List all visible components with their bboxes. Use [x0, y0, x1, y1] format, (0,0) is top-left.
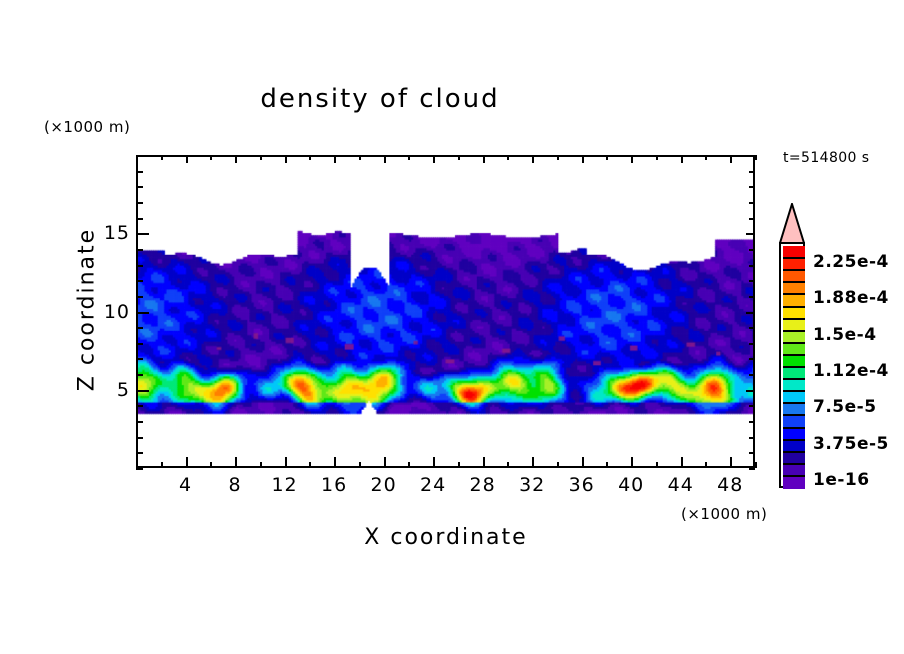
x-top-tick	[186, 155, 188, 163]
x-minor-tick	[705, 462, 707, 468]
x-top-tick	[161, 155, 163, 160]
y-right-tick	[749, 327, 755, 329]
y-right-tick	[749, 202, 755, 204]
y-tick-label: 10	[84, 301, 130, 323]
y-minor-tick	[136, 280, 143, 282]
x-tick-label: 28	[470, 474, 496, 496]
x-top-tick	[507, 155, 509, 160]
y-right-tick	[749, 343, 755, 345]
colorbar-tick-label: 2.25e-4	[813, 252, 889, 272]
x-top-tick	[210, 155, 212, 160]
colorbar-level-line	[783, 354, 805, 356]
y-right-tick	[749, 296, 755, 298]
plot-area	[136, 155, 755, 468]
x-top-tick	[408, 155, 410, 160]
x-top-tick	[755, 155, 757, 160]
x-top-tick	[681, 155, 683, 163]
colorbar-extend-arrow	[779, 203, 805, 244]
colorbar-level-line	[783, 330, 805, 332]
y-major-tick	[136, 312, 149, 314]
y-tick-label: 5	[84, 379, 130, 401]
y-right-tick	[749, 280, 755, 282]
y-right-tick	[749, 374, 755, 376]
x-tick-label: 4	[179, 474, 192, 496]
x-tick-label: 20	[371, 474, 397, 496]
x-top-tick	[582, 155, 584, 163]
x-major-tick	[433, 457, 435, 468]
x-minor-tick	[161, 462, 163, 468]
x-top-tick	[260, 155, 262, 160]
x-minor-tick	[260, 462, 262, 468]
x-top-tick	[705, 155, 707, 160]
y-right-tick	[749, 249, 755, 251]
x-minor-tick	[656, 462, 658, 468]
y-minor-tick	[136, 202, 143, 204]
y-minor-tick	[136, 296, 143, 298]
x-tick-label: 48	[717, 474, 743, 496]
x-major-tick	[186, 457, 188, 468]
colorbar[interactable]	[779, 242, 805, 488]
x-tick-label: 32	[519, 474, 545, 496]
y-major-tick	[136, 390, 149, 392]
y-minor-tick	[136, 343, 143, 345]
x-major-tick	[285, 457, 287, 468]
x-top-tick	[557, 155, 559, 160]
y-minor-tick	[136, 327, 143, 329]
x-top-tick	[384, 155, 386, 163]
colorbar-level-line	[783, 366, 805, 368]
x-minor-tick	[359, 462, 361, 468]
y-right-tick	[749, 265, 755, 267]
figure-canvas: density of cloud (×1000 m) (×1000 m) X c…	[0, 0, 904, 654]
y-right-tick	[749, 468, 755, 470]
y-minor-tick	[136, 155, 143, 157]
y-right-tick	[749, 155, 755, 157]
y-right-tick	[749, 405, 755, 407]
colorbar-level-line	[783, 414, 805, 416]
x-top-tick	[532, 155, 534, 163]
colorbar-level-line	[783, 342, 805, 344]
x-major-tick	[532, 457, 534, 468]
x-minor-tick	[458, 462, 460, 468]
y-right-tick	[746, 233, 755, 235]
colorbar-level-line	[783, 269, 805, 271]
x-tick-label: 8	[228, 474, 241, 496]
x-major-tick	[483, 457, 485, 468]
y-major-tick	[136, 233, 149, 235]
x-major-tick	[681, 457, 683, 468]
y-minor-tick	[136, 452, 143, 454]
colorbar-tick-label: 1e-16	[813, 470, 870, 490]
y-right-tick	[749, 421, 755, 423]
y-minor-tick	[136, 468, 143, 470]
y-minor-tick	[136, 265, 143, 267]
y-minor-tick	[136, 437, 143, 439]
z-axis-unit-label: (×1000 m)	[44, 118, 130, 136]
y-minor-tick	[136, 405, 143, 407]
y-right-tick	[749, 452, 755, 454]
x-tick-label: 24	[420, 474, 446, 496]
x-tick-label: 36	[569, 474, 595, 496]
colorbar-level-line	[783, 439, 805, 441]
x-minor-tick	[557, 462, 559, 468]
y-right-tick	[749, 186, 755, 188]
x-tick-label: 44	[668, 474, 694, 496]
x-tick-label: 12	[271, 474, 297, 496]
x-major-tick	[730, 457, 732, 468]
x-minor-tick	[606, 462, 608, 468]
y-minor-tick	[136, 249, 143, 251]
x-top-tick	[433, 155, 435, 163]
x-top-tick	[656, 155, 658, 160]
x-top-tick	[631, 155, 633, 163]
y-minor-tick	[136, 186, 143, 188]
x-top-tick	[606, 155, 608, 160]
colorbar-level-line	[783, 427, 805, 429]
x-axis-unit-label: (×1000 m)	[681, 505, 767, 523]
x-major-tick	[235, 457, 237, 468]
colorbar-tick-label: 7.5e-5	[813, 397, 877, 417]
colorbar-level-line	[783, 293, 805, 295]
x-minor-tick	[309, 462, 311, 468]
colorbar-level-line	[783, 257, 805, 259]
y-right-tick	[749, 437, 755, 439]
x-minor-tick	[408, 462, 410, 468]
colorbar-level-line	[783, 475, 805, 477]
x-axis-title: X coordinate	[136, 525, 756, 550]
colorbar-level-line	[783, 402, 805, 404]
colorbar-level-line	[783, 378, 805, 380]
y-right-tick	[746, 390, 755, 392]
chart-title: density of cloud	[0, 84, 760, 114]
y-right-tick	[746, 312, 755, 314]
colorbar-level-line	[783, 390, 805, 392]
contour-field	[138, 157, 753, 466]
colorbar-level-line	[783, 281, 805, 283]
time-annotation: t=514800 s	[783, 150, 869, 166]
y-minor-tick	[136, 171, 143, 173]
x-top-tick	[309, 155, 311, 160]
colorbar-tick-label: 1.12e-4	[813, 361, 889, 381]
y-right-tick	[749, 218, 755, 220]
x-minor-tick	[507, 462, 509, 468]
x-major-tick	[631, 457, 633, 468]
x-tick-label: 16	[321, 474, 347, 496]
x-major-tick	[334, 457, 336, 468]
x-top-tick	[334, 155, 336, 163]
colorbar-band	[783, 476, 805, 489]
x-top-tick	[458, 155, 460, 160]
y-minor-tick	[136, 218, 143, 220]
y-minor-tick	[136, 374, 143, 376]
colorbar-level-line	[783, 318, 805, 320]
colorbar-tick-label: 1.5e-4	[813, 325, 877, 345]
x-tick-label: 40	[618, 474, 644, 496]
x-top-tick	[483, 155, 485, 163]
colorbar-level-line	[783, 306, 805, 308]
x-minor-tick	[755, 462, 757, 468]
x-top-tick	[359, 155, 361, 160]
y-right-tick	[749, 171, 755, 173]
colorbar-tick-label: 1.88e-4	[813, 288, 889, 308]
x-top-tick	[235, 155, 237, 163]
x-major-tick	[384, 457, 386, 468]
x-top-tick	[285, 155, 287, 163]
x-minor-tick	[210, 462, 212, 468]
y-minor-tick	[136, 421, 143, 423]
colorbar-level-line	[783, 451, 805, 453]
colorbar-level-line	[783, 463, 805, 465]
y-tick-label: 15	[84, 222, 130, 244]
y-right-tick	[749, 358, 755, 360]
x-top-tick	[730, 155, 732, 163]
colorbar-tick-label: 3.75e-5	[813, 434, 889, 454]
y-minor-tick	[136, 358, 143, 360]
x-major-tick	[582, 457, 584, 468]
